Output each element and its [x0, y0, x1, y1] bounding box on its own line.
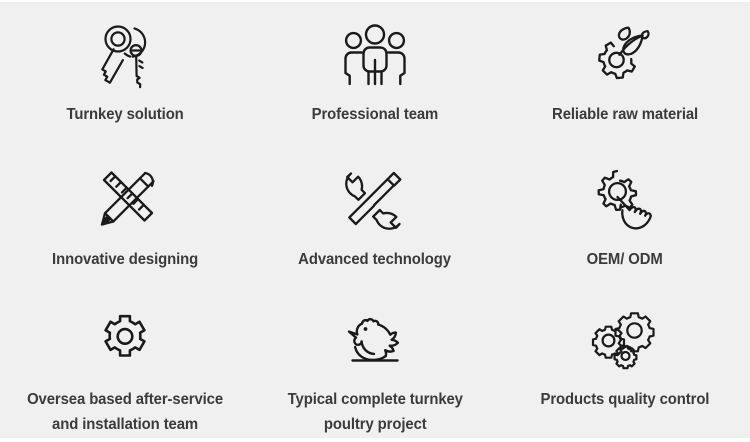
keys-icon: [82, 18, 168, 90]
feature-label: Oversea based after-service and installa…: [27, 387, 223, 437]
feature-cell-reliable-raw-material[interactable]: Reliable raw material: [500, 2, 750, 147]
features-panel: Turnkey solution Professional team: [0, 2, 750, 438]
wrench-screwdriver-icon: [332, 163, 418, 235]
feature-cell-turnkey-solution[interactable]: Turnkey solution: [0, 2, 250, 147]
feature-cell-oem-odm[interactable]: OEM/ ODM: [500, 147, 750, 292]
feature-label: Advanced technology: [299, 247, 452, 272]
feature-cell-advanced-technology[interactable]: Advanced technology: [250, 147, 500, 292]
feature-label: Professional team: [312, 102, 439, 127]
feature-cell-poultry-project[interactable]: Typical complete turnkey poultry project: [250, 293, 500, 438]
feature-cell-products-quality-control[interactable]: Products quality control: [500, 293, 750, 438]
feature-label: Reliable raw material: [552, 102, 698, 127]
feature-label: Turnkey solution: [66, 102, 183, 127]
gear-icon: [82, 309, 168, 373]
feature-label: Innovative designing: [52, 247, 198, 272]
three-gears-icon: [582, 309, 668, 373]
chicken-icon: [332, 309, 418, 373]
feature-cell-innovative-designing[interactable]: Innovative designing: [0, 147, 250, 292]
feature-label: Typical complete turnkey poultry project: [287, 387, 462, 437]
people-group-icon: [332, 18, 418, 90]
feature-label: OEM/ ODM: [587, 247, 663, 272]
feature-cell-oversea-after-service[interactable]: Oversea based after-service and installa…: [0, 293, 250, 438]
gear-leaf-icon: [582, 18, 668, 90]
pencil-ruler-icon: [82, 163, 168, 235]
gear-hand-pointer-icon: [582, 163, 668, 235]
features-grid: Turnkey solution Professional team: [0, 2, 750, 438]
feature-label: Products quality control: [541, 387, 710, 412]
feature-cell-professional-team[interactable]: Professional team: [250, 2, 500, 147]
